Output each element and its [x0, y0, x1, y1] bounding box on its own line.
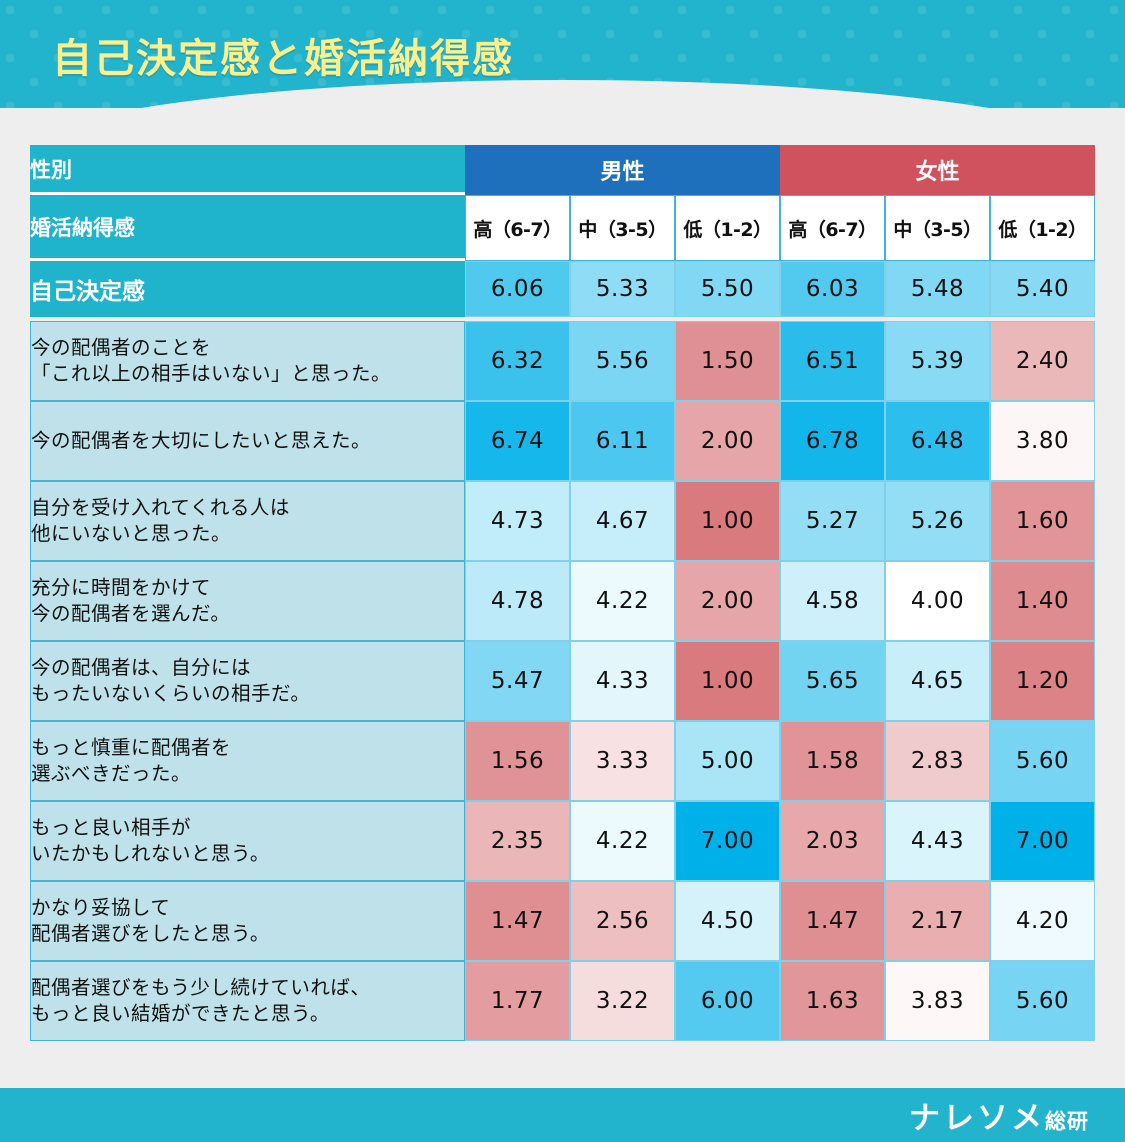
- banner-curve-decoration: [0, 80, 1125, 108]
- row-label-line-1: いたかもしれないと思う。: [31, 841, 464, 867]
- row-label-line-0: 配偶者選びをもう少し続けていれば、: [31, 975, 464, 1001]
- table-row: 充分に時間をかけて今の配偶者を選んだ。4.784.222.004.584.001…: [30, 561, 1095, 641]
- row-label-line-0: 今の配偶者は、自分には: [31, 655, 464, 681]
- group-header-female: 女性: [780, 145, 1095, 195]
- brand-logo-suffix: 総研: [1045, 1110, 1089, 1134]
- group-header-row: 性別男性女性: [30, 145, 1095, 195]
- heatmap-cell: 2.56: [570, 881, 675, 961]
- heatmap-cell: 5.65: [780, 641, 885, 721]
- heatmap-cell: 4.33: [570, 641, 675, 721]
- heatmap-cell: 4.65: [885, 641, 990, 721]
- table-row: 今の配偶者は、自分にはもったいないくらいの相手だ。5.474.331.005.6…: [30, 641, 1095, 721]
- row-label-line-1: 「これ以上の相手はいない」と思った。: [31, 361, 464, 387]
- heatmap-cell: 3.80: [990, 401, 1095, 481]
- row-label-line-1: 選ぶべきだった。: [31, 761, 464, 787]
- table-row: 今の配偶者を大切にしたいと思えた。6.746.112.006.786.483.8…: [30, 401, 1095, 481]
- row-label: 今の配偶者を大切にしたいと思えた。: [30, 401, 465, 481]
- heatmap-cell: 1.40: [990, 561, 1095, 641]
- table-body: 性別男性女性婚活納得感高（6-7）中（3-5）低（1-2）高（6-7）中（3-5…: [30, 145, 1095, 1041]
- heatmap-cell: 5.33: [570, 261, 675, 317]
- heatmap-cell: 4.67: [570, 481, 675, 561]
- row-label: 配偶者選びをもう少し続けていれば、もっと良い結婚ができたと思う。: [30, 961, 465, 1041]
- heatmap-cell: 1.77: [465, 961, 570, 1041]
- subheader-row: 婚活納得感高（6-7）中（3-5）低（1-2）高（6-7）中（3-5）低（1-2…: [30, 195, 1095, 261]
- heatmap-cell: 2.35: [465, 801, 570, 881]
- summary-row: 自己決定感6.065.335.506.035.485.40: [30, 261, 1095, 317]
- heatmap-cell: 6.78: [780, 401, 885, 481]
- row-label-line-1: 配偶者選びをしたと思う。: [31, 921, 464, 947]
- column-subheader-1: 中（3-5）: [570, 195, 675, 261]
- heatmap-cell: 6.03: [780, 261, 885, 317]
- column-subheader-5: 低（1-2）: [990, 195, 1095, 261]
- heatmap-cell: 4.50: [675, 881, 780, 961]
- heatmap-cell: 1.63: [780, 961, 885, 1041]
- row-label-line-0: 今の配偶者を大切にしたいと思えた。: [31, 428, 464, 454]
- heatmap-cell: 7.00: [990, 801, 1095, 881]
- heatmap-cell: 2.00: [675, 561, 780, 641]
- heatmap-cell: 6.32: [465, 321, 570, 401]
- column-subheader-3: 高（6-7）: [780, 195, 885, 261]
- heatmap-cell: 1.50: [675, 321, 780, 401]
- column-subheader-0: 高（6-7）: [465, 195, 570, 261]
- corner-label-satisfaction: 婚活納得感: [30, 195, 465, 261]
- heatmap-table: 性別男性女性婚活納得感高（6-7）中（3-5）低（1-2）高（6-7）中（3-5…: [30, 145, 1095, 1041]
- brand-logo-main: ナレソメ: [909, 1101, 1045, 1137]
- row-label: 今の配偶者のことを「これ以上の相手はいない」と思った。: [30, 321, 465, 401]
- heatmap-cell: 1.00: [675, 481, 780, 561]
- row-label-line-1: 他にいないと思った。: [31, 521, 464, 547]
- column-subheader-2: 低（1-2）: [675, 195, 780, 261]
- row-label: もっと慎重に配偶者を選ぶべきだった。: [30, 721, 465, 801]
- heatmap-cell: 1.60: [990, 481, 1095, 561]
- heatmap-cell: 4.22: [570, 801, 675, 881]
- heatmap-cell: 6.48: [885, 401, 990, 481]
- table-row: かなり妥協して配偶者選びをしたと思う。1.472.564.501.472.174…: [30, 881, 1095, 961]
- row-label-line-0: 充分に時間をかけて: [31, 575, 464, 601]
- heatmap-cell: 5.50: [675, 261, 780, 317]
- heatmap-cell: 2.83: [885, 721, 990, 801]
- brand-logo: ナレソメ総研: [909, 1093, 1089, 1138]
- heatmap-cell: 1.58: [780, 721, 885, 801]
- column-subheader-4: 中（3-5）: [885, 195, 990, 261]
- heatmap-cell: 1.56: [465, 721, 570, 801]
- heatmap-cell: 6.00: [675, 961, 780, 1041]
- corner-label-gender: 性別: [30, 145, 465, 195]
- heatmap-cell: 1.47: [465, 881, 570, 961]
- heatmap-cell: 5.39: [885, 321, 990, 401]
- heatmap-cell: 1.00: [675, 641, 780, 721]
- table-row: もっと慎重に配偶者を選ぶべきだった。1.563.335.001.582.835.…: [30, 721, 1095, 801]
- heatmap-cell: 5.48: [885, 261, 990, 317]
- heatmap-cell: 6.51: [780, 321, 885, 401]
- heatmap-cell: 5.60: [990, 961, 1095, 1041]
- heatmap-cell: 6.06: [465, 261, 570, 317]
- row-label: かなり妥協して配偶者選びをしたと思う。: [30, 881, 465, 961]
- heatmap-cell: 4.78: [465, 561, 570, 641]
- heatmap-cell: 4.58: [780, 561, 885, 641]
- heatmap-cell: 5.60: [990, 721, 1095, 801]
- heatmap-cell: 5.27: [780, 481, 885, 561]
- heatmap-cell: 2.40: [990, 321, 1095, 401]
- row-label-line-0: もっと慎重に配偶者を: [31, 735, 464, 761]
- table-row: 配偶者選びをもう少し続けていれば、もっと良い結婚ができたと思う。1.773.22…: [30, 961, 1095, 1041]
- row-label-line-1: もったいないくらいの相手だ。: [31, 681, 464, 707]
- table-row: もっと良い相手がいたかもしれないと思う。2.354.227.002.034.43…: [30, 801, 1095, 881]
- heatmap-cell: 2.17: [885, 881, 990, 961]
- heatmap-cell: 3.22: [570, 961, 675, 1041]
- heatmap-cell: 4.00: [885, 561, 990, 641]
- heatmap-cell: 3.33: [570, 721, 675, 801]
- heatmap-cell: 1.47: [780, 881, 885, 961]
- heatmap-cell: 5.40: [990, 261, 1095, 317]
- heatmap-cell: 2.03: [780, 801, 885, 881]
- heatmap-cell: 1.20: [990, 641, 1095, 721]
- heatmap-cell: 5.00: [675, 721, 780, 801]
- heatmap-cell: 3.83: [885, 961, 990, 1041]
- row-label: 自分を受け入れてくれる人は他にいないと思った。: [30, 481, 465, 561]
- heatmap-cell: 5.56: [570, 321, 675, 401]
- heatmap-cell: 6.11: [570, 401, 675, 481]
- row-label: 充分に時間をかけて今の配偶者を選んだ。: [30, 561, 465, 641]
- heatmap-cell: 5.26: [885, 481, 990, 561]
- row-label-line-0: 自分を受け入れてくれる人は: [31, 495, 464, 521]
- row-label-line-0: 今の配偶者のことを: [31, 335, 464, 361]
- row-label-line-0: かなり妥協して: [31, 895, 464, 921]
- table-row: 自分を受け入れてくれる人は他にいないと思った。4.734.671.005.275…: [30, 481, 1095, 561]
- heatmap-cell: 6.74: [465, 401, 570, 481]
- heatmap-cell: 2.00: [675, 401, 780, 481]
- heatmap-cell: 4.73: [465, 481, 570, 561]
- heatmap-cell: 4.20: [990, 881, 1095, 961]
- row-label: もっと良い相手がいたかもしれないと思う。: [30, 801, 465, 881]
- heatmap-cell: 5.47: [465, 641, 570, 721]
- table-row: 今の配偶者のことを「これ以上の相手はいない」と思った。6.325.561.506…: [30, 321, 1095, 401]
- row-label-line-1: 今の配偶者を選んだ。: [31, 601, 464, 627]
- page-title: 自己決定感と婚活納得感: [52, 26, 514, 84]
- page-footer: ナレソメ総研: [0, 1088, 1125, 1142]
- heatmap-cell: 7.00: [675, 801, 780, 881]
- summary-row-label: 自己決定感: [30, 261, 465, 317]
- heatmap-table-wrapper: 性別男性女性婚活納得感高（6-7）中（3-5）低（1-2）高（6-7）中（3-5…: [30, 145, 1095, 1041]
- heatmap-cell: 4.22: [570, 561, 675, 641]
- row-label-line-0: もっと良い相手が: [31, 815, 464, 841]
- page-banner: 自己決定感と婚活納得感: [0, 0, 1125, 108]
- heatmap-cell: 4.43: [885, 801, 990, 881]
- row-label: 今の配偶者は、自分にはもったいないくらいの相手だ。: [30, 641, 465, 721]
- group-header-male: 男性: [465, 145, 780, 195]
- row-label-line-1: もっと良い結婚ができたと思う。: [31, 1001, 464, 1027]
